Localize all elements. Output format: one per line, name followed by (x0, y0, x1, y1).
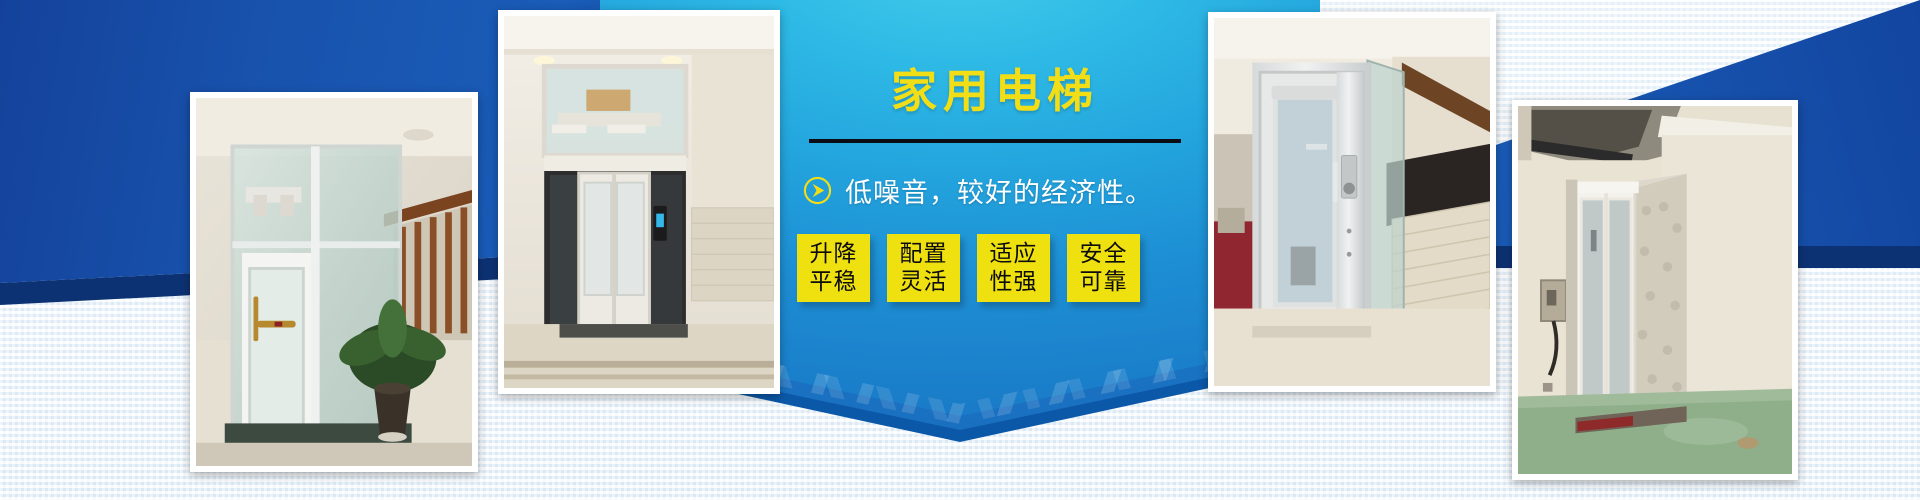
badge-line-2: 可靠 (1080, 268, 1128, 296)
tagline-text: 低噪音，较好的经济性。 (845, 171, 1153, 210)
home-elevator-promo-banner: 家用电梯 低噪音，较好的经济性。 升降 平稳 配置 灵活 适应 性强 (0, 0, 1920, 500)
feature-badge[interactable]: 安全 可靠 (1067, 234, 1140, 302)
badge-line-1: 安全 (1080, 240, 1128, 268)
feature-badge[interactable]: 适应 性强 (977, 234, 1050, 302)
photo-elevator-installation-in-progress (1518, 106, 1792, 474)
badge-line-2: 平稳 (810, 268, 858, 296)
badge-line-2: 灵活 (900, 268, 948, 296)
circled-play-arrow-icon (803, 176, 832, 205)
feature-badge-list: 升降 平稳 配置 灵活 适应 性强 安全 可靠 (795, 234, 1195, 302)
photo-card-4[interactable] (1512, 100, 1798, 480)
photo-card-3[interactable] (1208, 12, 1496, 392)
photo-white-elevator-in-hallway (504, 16, 774, 388)
badge-line-2: 性强 (990, 268, 1038, 296)
photo-card-1[interactable] (190, 92, 478, 472)
badge-line-1: 升降 (810, 240, 858, 268)
photo-card-2[interactable] (498, 10, 780, 394)
title-divider (809, 139, 1181, 143)
photo-stainless-elevator-beside-stairs (1214, 18, 1490, 386)
badge-line-1: 适应 (990, 240, 1038, 268)
feature-badge[interactable]: 升降 平稳 (797, 234, 870, 302)
badge-line-1: 配置 (900, 240, 948, 268)
banner-content: 家用电梯 低噪音，较好的经济性。 升降 平稳 配置 灵活 适应 性强 (795, 68, 1195, 302)
feature-badge[interactable]: 配置 灵活 (887, 234, 960, 302)
tagline-row: 低噪音，较好的经济性。 (795, 171, 1195, 210)
photo-glass-home-elevator-with-plant (196, 98, 472, 466)
page-title: 家用电梯 (795, 68, 1195, 114)
